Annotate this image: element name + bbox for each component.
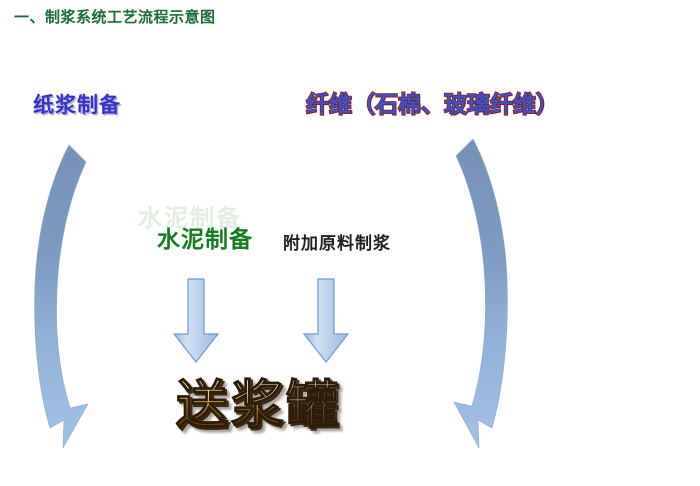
label-pulp-preparation: 纸浆制备 [33,95,121,116]
down-arrow-additive [298,276,354,366]
label-fiber-asbestos-glassfiber: 纤维（石棉、玻璃纤维） [306,94,559,117]
pulping-system-flow-diagram-slide: 一、制浆系统工艺流程示意图 [0,0,700,486]
page-title: 一、制浆系统工艺流程示意图 [14,8,216,26]
label-additive-raw-material-pulping: 附加原料制浆 [283,236,391,253]
curved-down-arrow-right [412,130,522,475]
label-slurry-delivery-tank: 送浆罐 [176,380,341,432]
label-cement-preparation: 水泥制备 [157,229,253,252]
down-arrow-cement [168,276,224,366]
curved-down-arrow-left [20,136,130,476]
